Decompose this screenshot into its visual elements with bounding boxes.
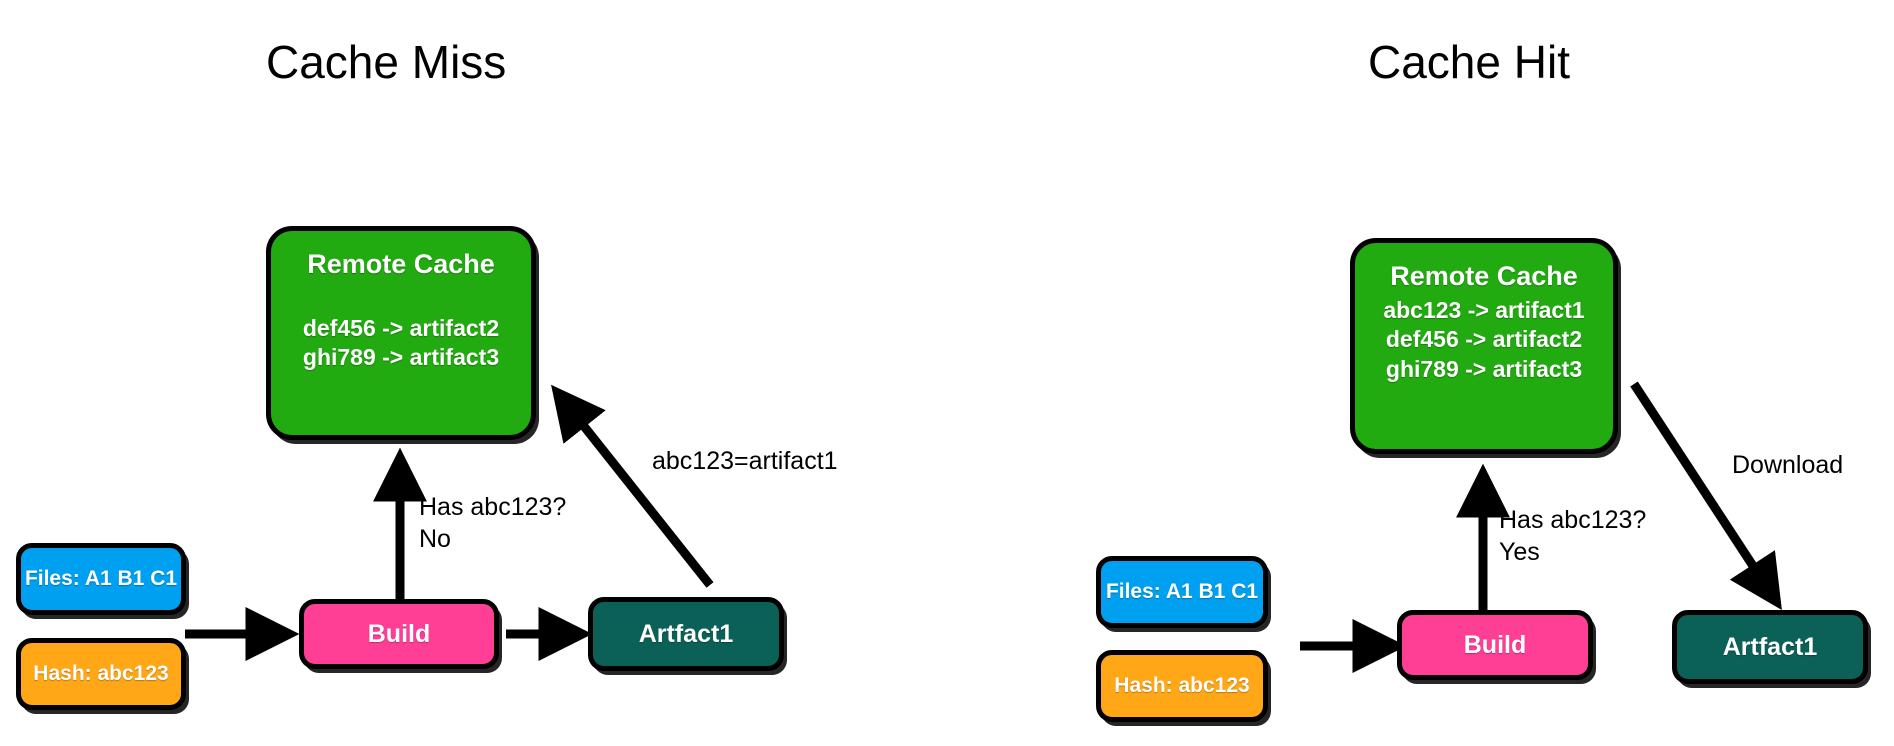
- remote-cache-entry-1: def456 -> artifact2: [1363, 325, 1605, 354]
- remote-cache-node-hit[interactable]: Remote Cache abc123 -> artifact1 def456 …: [1350, 238, 1618, 454]
- artifact-node-label: Artfact1: [1723, 633, 1817, 662]
- hash-node-hit[interactable]: Hash: abc123: [1096, 650, 1268, 722]
- edge-label-upload-miss: abc123=artifact1: [652, 445, 838, 477]
- artifact-node-hit[interactable]: Artfact1: [1672, 610, 1868, 684]
- panel-title-cache-miss: Cache Miss: [266, 35, 506, 89]
- files-node-miss[interactable]: Files: A1 B1 C1: [16, 543, 186, 615]
- hash-node-label: Hash: abc123: [33, 662, 168, 686]
- artifact-node-miss[interactable]: Artfact1: [588, 597, 784, 671]
- remote-cache-entry-2: ghi789 -> artifact3: [281, 343, 521, 372]
- build-node-label: Build: [368, 620, 431, 649]
- remote-cache-entry-1: def456 -> artifact2: [281, 314, 521, 343]
- diagram-canvas: Cache Miss Remote Cache def456 -> artifa…: [0, 0, 1894, 746]
- remote-cache-node-miss[interactable]: Remote Cache def456 -> artifact2 ghi789 …: [266, 226, 536, 440]
- build-node-hit[interactable]: Build: [1397, 610, 1593, 680]
- artifact-node-label: Artfact1: [639, 620, 733, 649]
- files-node-hit[interactable]: Files: A1 B1 C1: [1096, 556, 1268, 628]
- files-node-label: Files: A1 B1 C1: [1106, 580, 1258, 604]
- build-node-label: Build: [1464, 631, 1527, 660]
- edge-label-query-miss: Has abc123? No: [419, 491, 566, 555]
- hash-node-miss[interactable]: Hash: abc123: [16, 638, 186, 710]
- build-node-miss[interactable]: Build: [299, 599, 499, 669]
- edge-label-query-hit: Has abc123? Yes: [1499, 504, 1646, 568]
- edge-label-download-hit: Download: [1732, 449, 1843, 481]
- remote-cache-title: Remote Cache: [281, 249, 521, 280]
- remote-cache-title: Remote Cache: [1363, 261, 1605, 292]
- edge-artifact-to-cache-left: [560, 396, 710, 585]
- remote-cache-entry-2: ghi789 -> artifact3: [1363, 355, 1605, 384]
- panel-title-cache-hit: Cache Hit: [1368, 35, 1570, 89]
- files-node-label: Files: A1 B1 C1: [25, 567, 177, 591]
- hash-node-label: Hash: abc123: [1114, 674, 1249, 698]
- remote-cache-entry-0: abc123 -> artifact1: [1363, 296, 1605, 325]
- edge-cache-to-artifact-right: [1634, 384, 1774, 598]
